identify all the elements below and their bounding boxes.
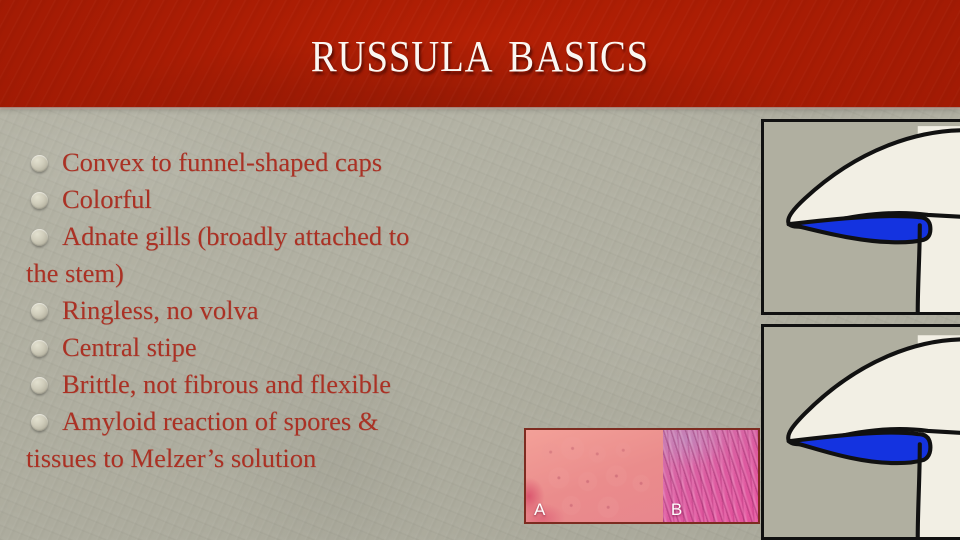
bullet-bead-icon <box>31 303 48 320</box>
list-item: Colorful <box>26 181 526 218</box>
microscopy-panel-label-a: A <box>534 500 545 519</box>
list-item-continuation: tissues to Melzer’s solution <box>26 440 526 477</box>
list-item: Convex to funnel-shaped caps <box>26 144 526 181</box>
list-item-label: Brittle, not fibrous and flexible <box>62 369 391 399</box>
bullet-bead-icon <box>31 229 48 246</box>
bullet-bead-icon <box>31 377 48 394</box>
list-item-continuation: the stem) <box>26 255 526 292</box>
list-item: Brittle, not fibrous and flexible <box>26 366 526 403</box>
list-item: Central stipe <box>26 329 526 366</box>
adnate-gill-attachment-icon <box>764 327 960 537</box>
list-item-label: Ringless, no volva <box>62 295 259 325</box>
bullet-list: Convex to funnel-shaped caps Colorful Ad… <box>26 144 526 477</box>
list-item: Amyloid reaction of spores & <box>26 403 526 440</box>
mushroom-diagram-frame-top <box>761 119 960 315</box>
list-item: Adnate gills (broadly attached to <box>26 218 526 255</box>
list-item-label: Amyloid reaction of spores & <box>62 406 378 436</box>
microscopy-image: A B <box>524 428 760 524</box>
list-item-label: Central stipe <box>62 332 197 362</box>
bullet-bead-icon <box>31 192 48 209</box>
page-title: Russula Basics <box>58 12 903 88</box>
microscopy-panel-label-b: B <box>671 500 682 519</box>
list-item-label: Adnate gills (broadly attached to <box>62 221 409 251</box>
banner-highlight-line <box>0 107 960 110</box>
bullet-bead-icon <box>31 155 48 172</box>
microscopy-panel-b: B <box>663 430 758 522</box>
bullet-bead-icon <box>31 414 48 431</box>
slide: Russula Basics Convex to funnel-shaped c… <box>0 0 960 540</box>
microscopy-panel-a: A <box>526 430 663 522</box>
mushroom-diagram-frame-bottom <box>761 324 960 540</box>
list-item-label: Convex to funnel-shaped caps <box>62 147 382 177</box>
bullet-bead-icon <box>31 340 48 357</box>
list-item-label: Colorful <box>62 184 152 214</box>
adnate-gill-attachment-icon <box>764 122 960 312</box>
list-item: Ringless, no volva <box>26 292 526 329</box>
